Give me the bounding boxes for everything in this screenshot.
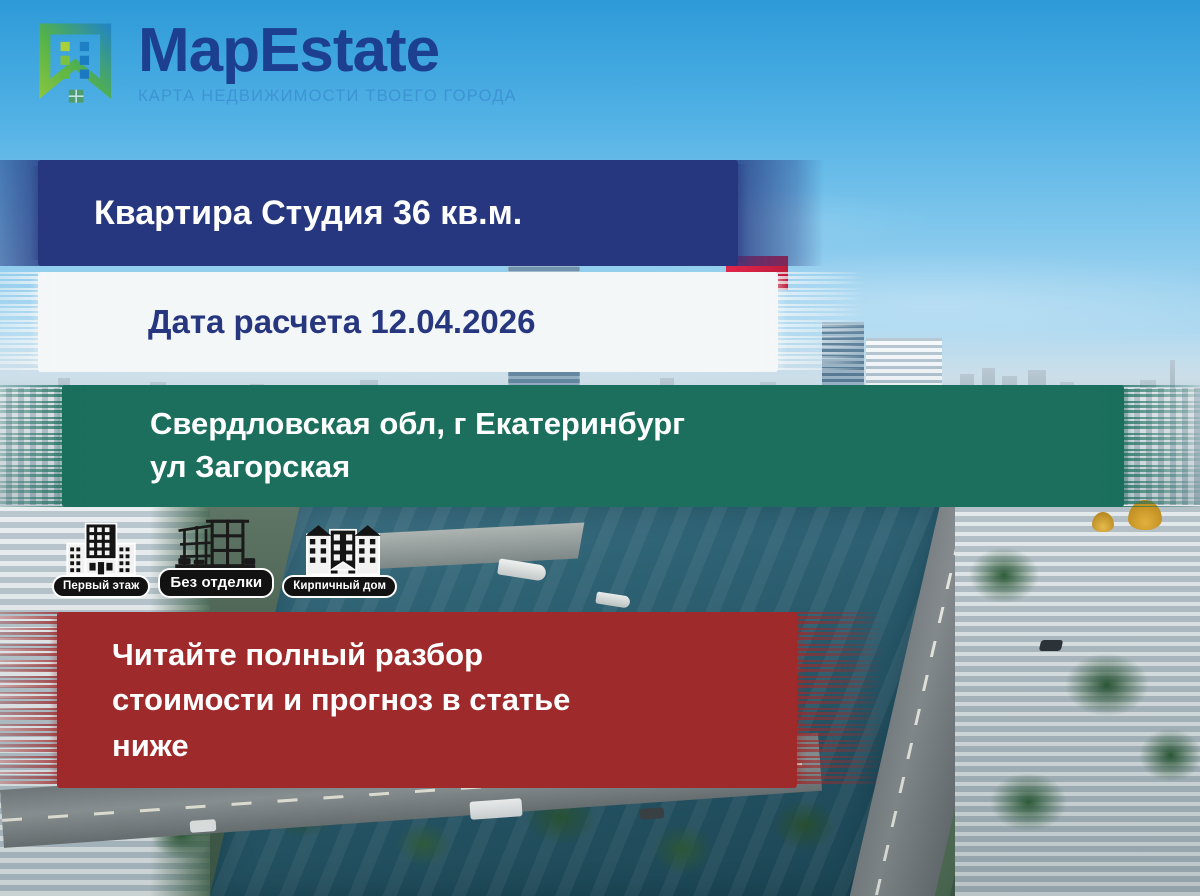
address-text: Свердловская обл, г Екатеринбург ул Заго…: [150, 403, 685, 489]
church-dome-small-icon: [1092, 512, 1114, 532]
address-line-1: Свердловская обл, г Екатеринбург: [150, 403, 685, 446]
cta-line-1: Читайте полный разбор: [112, 632, 570, 677]
address-line-2: ул Загорская: [150, 446, 685, 489]
badge-label: Кирпичный дом: [282, 575, 397, 598]
brush-fray-right: [714, 160, 824, 266]
car: [1039, 640, 1064, 651]
cta-text: Читайте полный разбор стоимости и прогно…: [112, 632, 570, 768]
calculation-date-text: Дата расчета 12.04.2026: [148, 303, 535, 341]
cta-banner[interactable]: Читайте полный разбор стоимости и прогно…: [57, 612, 797, 788]
address-banner: Свердловская обл, г Екатеринбург ул Заго…: [62, 385, 1124, 507]
construction-frame-icon: [170, 512, 262, 572]
badge-label: Первый этаж: [52, 575, 150, 598]
brand-logo[interactable]: MapEstate КАРТА НЕДВИЖИМОСТИ ТВОЕГО ГОРО…: [32, 18, 517, 110]
cta-line-3: ниже: [112, 723, 570, 768]
feature-badges: Первый этаж: [52, 512, 397, 598]
brush-fray-left: [0, 160, 62, 266]
car: [640, 807, 665, 820]
badge-brick-house[interactable]: Кирпичный дом: [282, 519, 397, 598]
right-city-blocks: [955, 505, 1200, 896]
badge-label: Без отделки: [158, 568, 274, 598]
badge-no-finishing[interactable]: Без отделки: [158, 512, 274, 598]
bus: [469, 798, 522, 820]
calculation-date-banner: Дата расчета 12.04.2026: [38, 272, 778, 372]
brick-apartment-icon: [303, 519, 377, 579]
property-title-banner: Квартира Студия 36 кв.м.: [38, 160, 738, 266]
car: [190, 819, 217, 833]
brush-fray-right: [1100, 385, 1200, 507]
promo-card: MapEstate КАРТА НЕДВИЖИМОСТИ ТВОЕГО ГОРО…: [0, 0, 1200, 896]
brush-fray-left: [0, 385, 86, 507]
brush-fray-right: [773, 612, 883, 788]
property-title-text: Квартира Студия 36 кв.м.: [94, 194, 522, 233]
brush-fray-right: [754, 272, 864, 372]
cta-line-2: стоимости и прогноз в статье: [112, 677, 570, 722]
brand-name: MapEstate: [138, 22, 517, 81]
brush-fray-left: [0, 272, 62, 372]
badge-first-floor[interactable]: Первый этаж: [52, 519, 150, 598]
bookmark-building-icon: [32, 18, 124, 110]
brand-tagline: КАРТА НЕДВИЖИМОСТИ ТВОЕГО ГОРОДА: [138, 87, 517, 106]
office-building-icon: [64, 519, 138, 579]
brush-fray-left: [0, 612, 81, 788]
